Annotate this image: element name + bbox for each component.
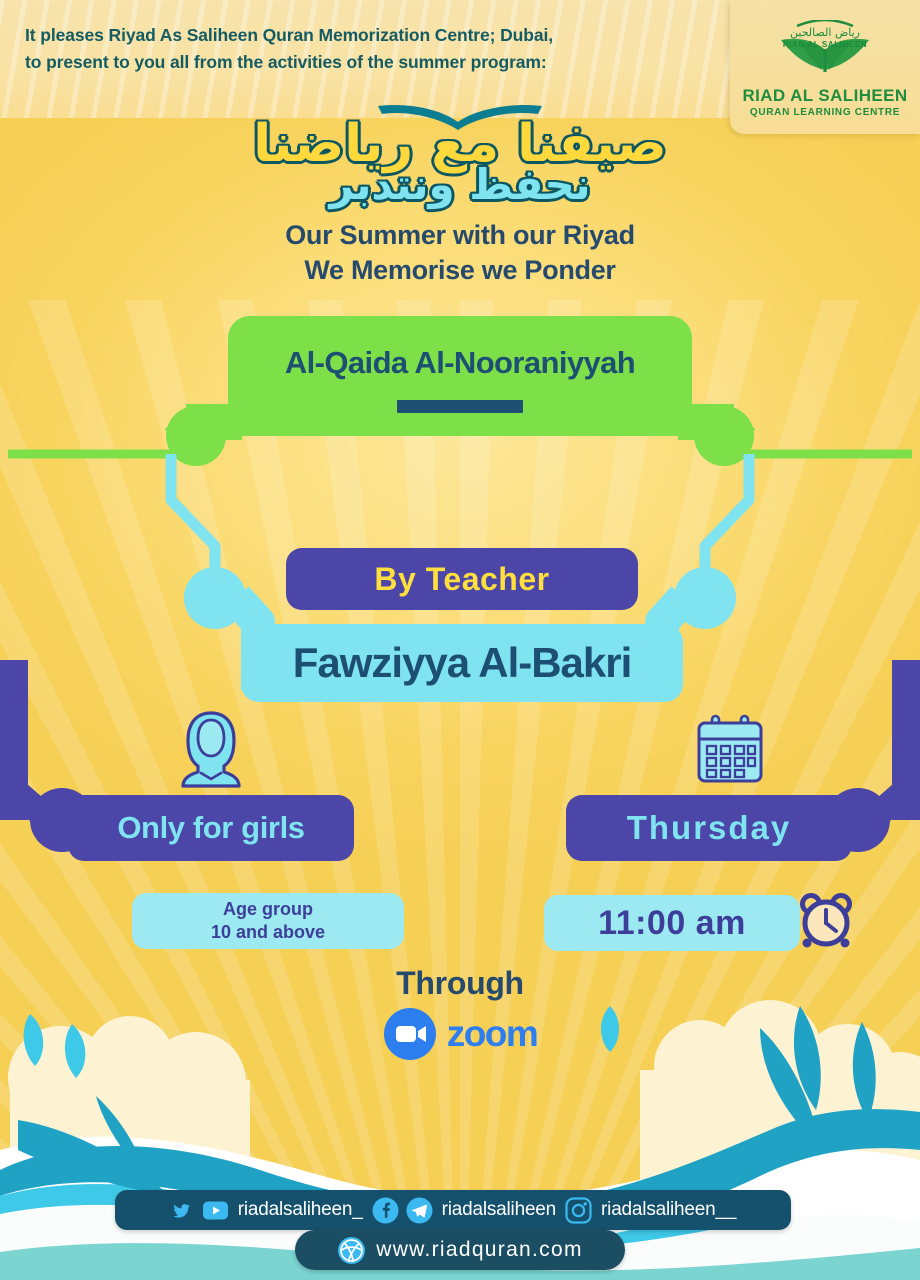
- audience-pill: Only for girls: [68, 795, 354, 861]
- course-name: Al-Qaida Al-Nooraniyyah: [285, 345, 635, 381]
- youtube-icon[interactable]: [202, 1197, 229, 1224]
- twitter-icon[interactable]: [168, 1197, 195, 1224]
- social-handle-instagram[interactable]: riadalsaliheen__: [601, 1199, 736, 1221]
- website-bar[interactable]: www.riadquran.com: [295, 1230, 625, 1270]
- age-group-label: Age group: [223, 898, 313, 921]
- hijab-girl-icon: [180, 710, 242, 788]
- zoom-video-icon: [383, 1007, 437, 1061]
- audience-label: Only for girls: [117, 810, 304, 846]
- platform-name: zoom: [447, 1013, 538, 1055]
- social-links-bar: riadalsaliheen_ riadalsaliheen riadalsal…: [115, 1190, 791, 1230]
- time-pill: 11:00 am: [544, 895, 800, 951]
- connector-green-right: [678, 404, 912, 466]
- time-label: 11:00 am: [598, 904, 746, 943]
- social-handle-twitter-youtube[interactable]: riadalsaliheen_: [238, 1199, 363, 1221]
- teacher-name-pill: Fawziyya Al-Bakri: [241, 624, 683, 702]
- poster-root: It pleases Riyad As Saliheen Quran Memor…: [0, 0, 920, 1280]
- telegram-icon[interactable]: [406, 1197, 433, 1224]
- by-teacher-pill: By Teacher: [286, 548, 638, 610]
- connector-green-left: [8, 404, 242, 466]
- platform-zoom-row: zoom: [0, 1007, 920, 1061]
- social-handle-facebook-telegram[interactable]: riadalsaliheen: [442, 1199, 556, 1221]
- globe-icon: [337, 1236, 366, 1265]
- teacher-name: Fawziyya Al-Bakri: [293, 639, 632, 687]
- day-label: Thursday: [627, 809, 792, 847]
- platform-through-label: Through: [0, 965, 920, 1002]
- course-banner: Al-Qaida Al-Nooraniyyah: [228, 316, 692, 410]
- age-group-value: 10 and above: [211, 921, 325, 944]
- calendar-icon: [695, 713, 765, 785]
- alarm-clock-icon: [798, 893, 854, 951]
- by-teacher-label: By Teacher: [374, 561, 549, 598]
- website-url[interactable]: www.riadquran.com: [376, 1238, 583, 1262]
- age-group-pill: Age group 10 and above: [132, 893, 404, 949]
- course-banner-divider: [397, 400, 523, 413]
- facebook-icon[interactable]: [372, 1197, 399, 1224]
- day-pill: Thursday: [566, 795, 852, 861]
- instagram-icon[interactable]: [565, 1197, 592, 1224]
